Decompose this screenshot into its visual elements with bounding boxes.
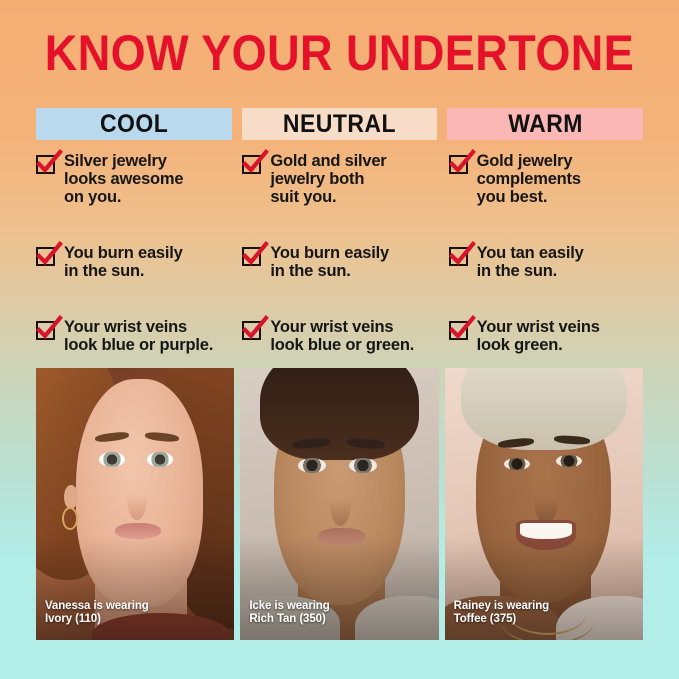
- list-item-text: Your wrist veins look blue or purple.: [64, 318, 213, 354]
- checkbox-checked-icon: [242, 247, 261, 266]
- photo-caption: Vanessa is wearing Ivory (110): [45, 600, 149, 626]
- list-item: You burn easily in the sun.: [242, 244, 442, 280]
- list-item-text: You tan easily in the sun.: [477, 244, 584, 280]
- checklist-column-warm: Gold jewelry complements you best. You t…: [449, 152, 649, 370]
- list-item-text: Gold and silver jewelry both suit you.: [270, 152, 386, 206]
- list-item: Your wrist veins look green.: [449, 318, 649, 354]
- page-title: KNOW YOUR UNDERTONE: [34, 26, 645, 80]
- list-item-text: Your wrist veins look green.: [477, 318, 600, 354]
- checkbox-checked-icon: [36, 247, 55, 266]
- model-photo-icke: Icke is wearing Rich Tan (350): [240, 368, 438, 640]
- list-item-text: You burn easily in the sun.: [270, 244, 389, 280]
- checkbox-checked-icon: [242, 321, 261, 340]
- model-photo-vanessa: Vanessa is wearing Ivory (110): [36, 368, 234, 640]
- list-item: You burn easily in the sun.: [36, 244, 236, 280]
- undertone-infographic: KNOW YOUR UNDERTONE COOL NEUTRAL WARM Si…: [0, 0, 679, 679]
- checkbox-checked-icon: [36, 321, 55, 340]
- list-item-text: Your wrist veins look blue or green.: [270, 318, 414, 354]
- list-item: Your wrist veins look blue or green.: [242, 318, 442, 354]
- list-item: Your wrist veins look blue or purple.: [36, 318, 236, 354]
- column-headers: COOL NEUTRAL WARM: [36, 108, 643, 140]
- photo-caption: Icke is wearing Rich Tan (350): [249, 600, 329, 626]
- checkbox-checked-icon: [449, 321, 468, 340]
- checklist-columns: Silver jewelry looks awesome on you. You…: [36, 152, 649, 370]
- checkbox-checked-icon: [449, 247, 468, 266]
- column-header-cool-label: COOL: [100, 110, 168, 139]
- column-header-neutral: NEUTRAL: [242, 108, 438, 140]
- list-item-text: You burn easily in the sun.: [64, 244, 183, 280]
- checklist-column-neutral: Gold and silver jewelry both suit you. Y…: [242, 152, 442, 370]
- checkbox-checked-icon: [449, 155, 468, 174]
- list-item-text: Gold jewelry complements you best.: [477, 152, 581, 206]
- column-header-cool: COOL: [36, 108, 232, 140]
- model-photo-rainey: Rainey is wearing Toffee (375): [445, 368, 643, 640]
- photo-caption: Rainey is wearing Toffee (375): [454, 600, 549, 626]
- list-item: Silver jewelry looks awesome on you.: [36, 152, 236, 206]
- checkbox-checked-icon: [242, 155, 261, 174]
- list-item: You tan easily in the sun.: [449, 244, 649, 280]
- list-item: Gold and silver jewelry both suit you.: [242, 152, 442, 206]
- column-header-warm: WARM: [447, 108, 643, 140]
- list-item: Gold jewelry complements you best.: [449, 152, 649, 206]
- checkbox-checked-icon: [36, 155, 55, 174]
- model-photo-row: Vanessa is wearing Ivory (110) Icke is w…: [36, 368, 643, 640]
- list-item-text: Silver jewelry looks awesome on you.: [64, 152, 183, 206]
- checklist-column-cool: Silver jewelry looks awesome on you. You…: [36, 152, 236, 370]
- column-header-neutral-label: NEUTRAL: [283, 110, 396, 139]
- column-header-warm-label: WARM: [508, 110, 583, 139]
